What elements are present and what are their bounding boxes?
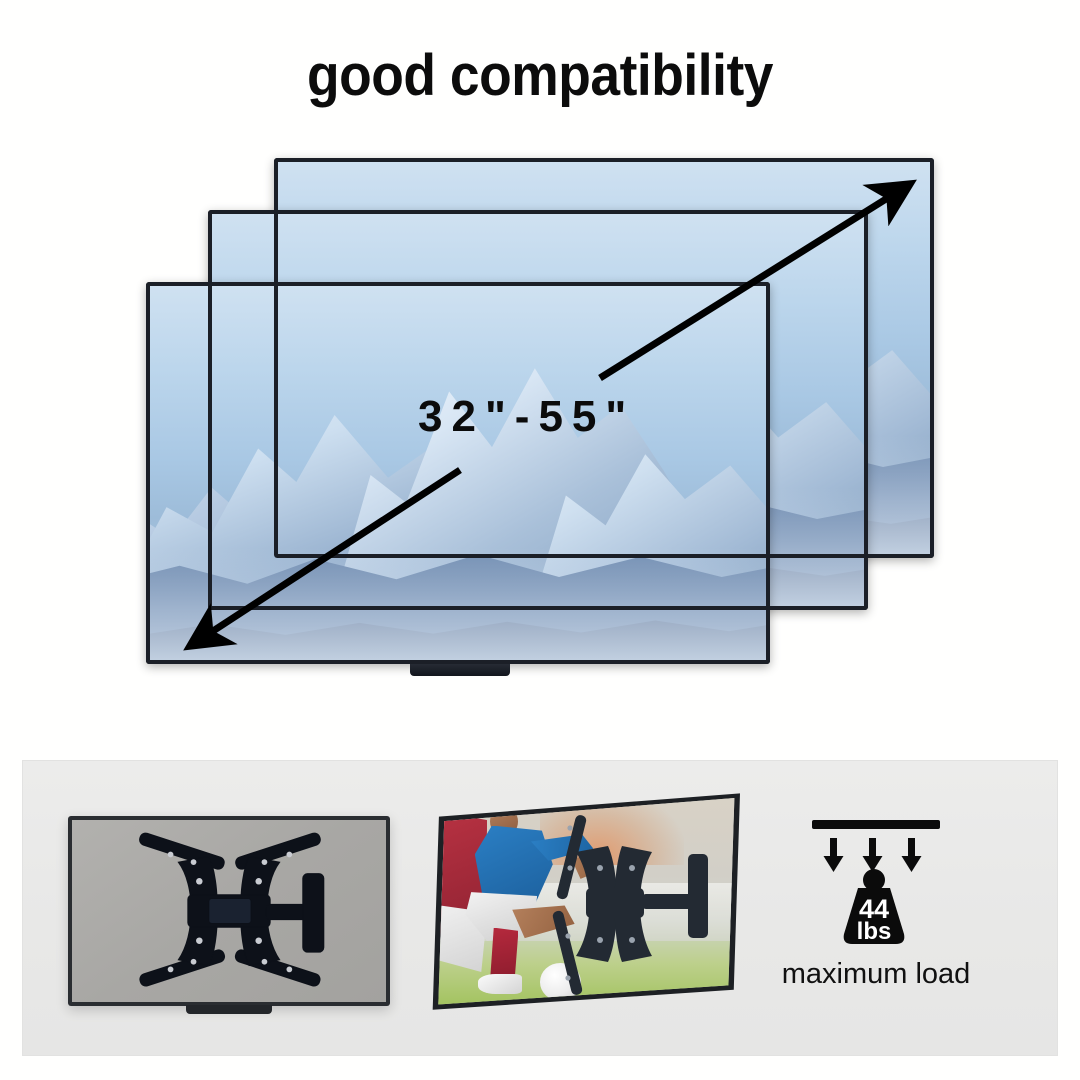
down-arrows-icon (824, 838, 922, 872)
bracket-front-screen (72, 820, 386, 1002)
bracket-front-tv-stand (186, 1005, 272, 1014)
ceiling-bar-icon (812, 820, 940, 829)
bracket-front-view (68, 816, 390, 1006)
weight-knob-icon (863, 869, 885, 891)
tv-front (146, 282, 770, 664)
max-load-icon: 44 lbs (806, 818, 946, 948)
screen-size-label: 32"-55" (418, 392, 635, 442)
mountain-scene-front (150, 286, 766, 660)
page-title: good compatibility (43, 42, 1037, 109)
max-load-caption: maximum load (744, 958, 1008, 991)
max-load-unit: lbs (857, 918, 892, 945)
hero-stacked-tvs: 32"-55" (0, 130, 1080, 730)
tv-front-stand (410, 664, 510, 676)
bracket-mounted-view (428, 790, 740, 1012)
tv-wall-mount-bracket (72, 820, 386, 1002)
mounted-bracket-overlay (546, 808, 742, 998)
tv-front-screen (150, 286, 766, 660)
product-infographic: good compatibility (0, 0, 1080, 1080)
